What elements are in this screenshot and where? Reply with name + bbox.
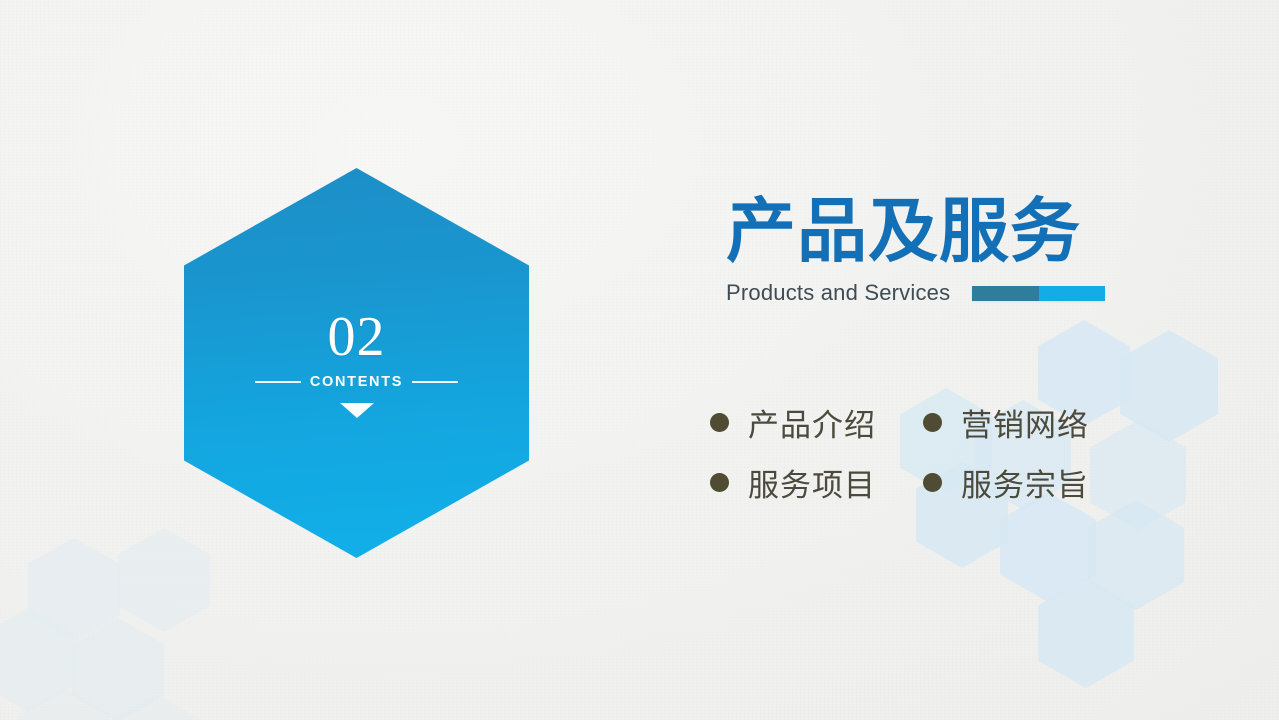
presentation-slide: 02 CONTENTS 产品及服务 Products and Services …: [0, 0, 1279, 720]
section-number: 02: [328, 309, 386, 365]
list-item-label: 服务项目: [748, 460, 876, 505]
badge-content: 02 CONTENTS: [184, 168, 529, 558]
contents-label-row: CONTENTS: [255, 374, 458, 390]
accent-bar-light-segment: [1039, 286, 1106, 301]
list-item[interactable]: 服务项目: [710, 460, 923, 505]
rule-right: [412, 381, 458, 383]
triangle-down-icon: [340, 403, 374, 418]
bullet-dot-icon: [710, 473, 729, 492]
bullet-dot-icon: [923, 413, 942, 432]
list-item[interactable]: 服务宗旨: [923, 460, 1123, 505]
page-subtitle: Products and Services: [726, 280, 950, 306]
accent-bar: [972, 286, 1105, 301]
list-item[interactable]: 产品介绍: [710, 400, 923, 445]
bullet-dot-icon: [923, 473, 942, 492]
contents-label: CONTENTS: [310, 374, 403, 390]
list-item[interactable]: 营销网络: [923, 400, 1123, 445]
page-title: 产品及服务: [726, 196, 1146, 266]
accent-bar-dark-segment: [972, 286, 1039, 301]
header-block: 产品及服务 Products and Services: [726, 196, 1146, 304]
list-item-label: 产品介绍: [748, 400, 876, 445]
list-item-label: 营销网络: [961, 400, 1089, 445]
list-item-label: 服务宗旨: [961, 460, 1089, 505]
section-number-badge: 02 CONTENTS: [184, 168, 529, 558]
subtitle-row: Products and Services: [726, 282, 1146, 304]
bullet-dot-icon: [710, 413, 729, 432]
rule-left: [255, 381, 301, 383]
contents-list: 产品介绍 营销网络 服务项目 服务宗旨: [710, 392, 1130, 512]
